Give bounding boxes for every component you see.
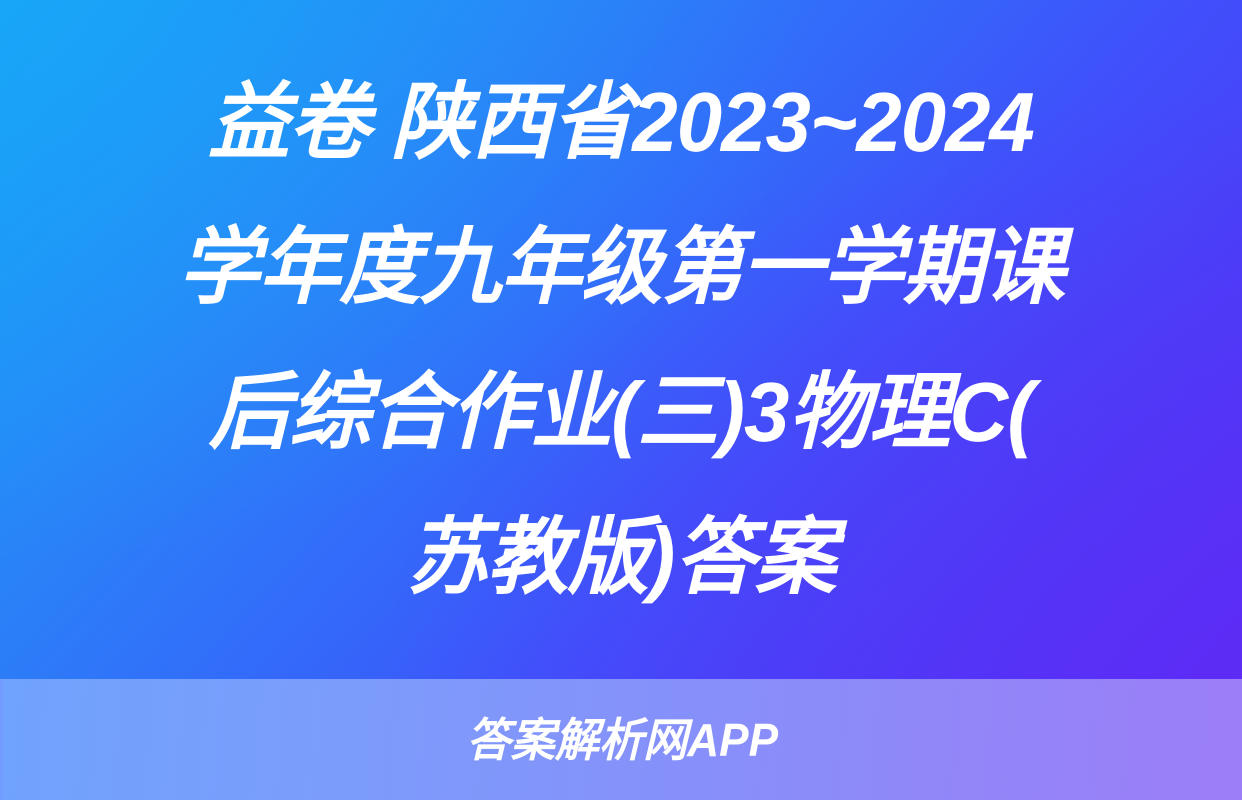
page-title: 益卷 陕西省2023~2024 学年度九年级第一学期课 后综合作业(三)3物理C… <box>61 50 1180 630</box>
footer-banner: 答案解析网APP <box>0 679 1242 800</box>
poster-banner: 益卷 陕西省2023~2024 学年度九年级第一学期课 后综合作业(三)3物理C… <box>0 0 1242 800</box>
app-brand-label: 答案解析网APP <box>467 717 779 763</box>
title-line-2: 学年度九年级第一学期课 <box>61 195 1180 340</box>
title-line-3: 后综合作业(三)3物理C( <box>61 340 1180 485</box>
title-line-4: 苏教版)答案 <box>61 485 1180 630</box>
title-line-1: 益卷 陕西省2023~2024 <box>61 50 1180 195</box>
title-block: 益卷 陕西省2023~2024 学年度九年级第一学期课 后综合作业(三)3物理C… <box>0 0 1242 679</box>
